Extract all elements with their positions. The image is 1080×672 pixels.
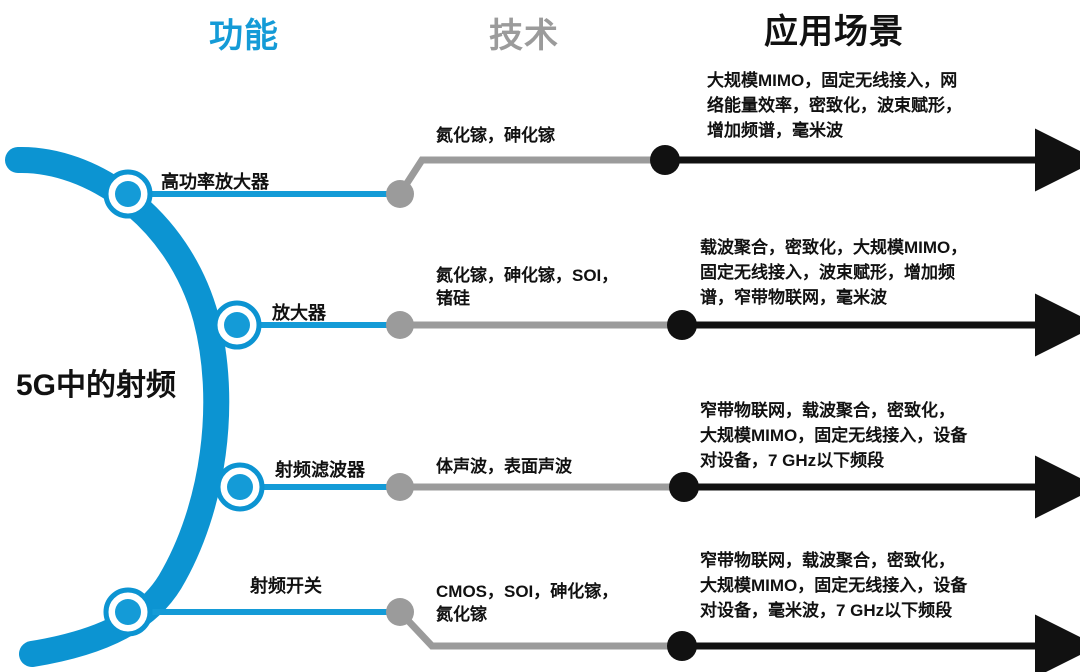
function-node-1 — [115, 181, 141, 207]
app-node-2 — [667, 310, 697, 340]
app-node-3 — [669, 472, 699, 502]
function-node-4 — [115, 599, 141, 625]
function-label-3: 射频滤波器 — [275, 456, 365, 482]
trunk-arc — [18, 160, 216, 654]
app-node-1 — [650, 145, 680, 175]
application-label-4: 窄带物联网，载波聚合，密致化， 大规模MIMO，固定无线接入，设备 对设备，毫米… — [700, 548, 967, 623]
tech-node-1 — [386, 180, 414, 208]
diagram-canvas: 功能 技术 应用场景 5G中的射频 高功率放大器 氮化镓，砷化镓 大规模MIMO… — [0, 0, 1080, 672]
application-label-2: 载波聚合，密致化，大规模MIMO， 固定无线接入，波束赋形，增加频 谱，窄带物联… — [700, 235, 967, 310]
application-label-3: 窄带物联网，载波聚合，密致化， 大规模MIMO，固定无线接入，设备 对设备，7 … — [700, 398, 967, 473]
root-label: 5G中的射频 — [16, 360, 176, 404]
function-node-3 — [227, 474, 253, 500]
technology-label-3: 体声波，表面声波 — [436, 455, 572, 478]
column-header-application: 应用场景 — [764, 4, 904, 53]
tech-node-3 — [386, 473, 414, 501]
column-header-technology: 技术 — [489, 8, 559, 57]
function-label-2: 放大器 — [272, 299, 326, 325]
technology-label-4: CMOS，SOI，砷化镓， 氮化镓 — [436, 580, 618, 626]
tech-node-2 — [386, 311, 414, 339]
technology-label-1: 氮化镓，砷化镓 — [436, 124, 555, 147]
function-node-2 — [224, 312, 250, 338]
column-header-function: 功能 — [209, 8, 279, 57]
app-node-4 — [667, 631, 697, 661]
technology-label-2: 氮化镓，砷化镓，SOI， 锗硅 — [436, 264, 618, 310]
function-label-4: 射频开关 — [250, 572, 322, 598]
tech-node-4 — [386, 598, 414, 626]
application-label-1: 大规模MIMO，固定无线接入，网 络能量效率，密致化，波束赋形， 增加频谱，毫米… — [707, 68, 962, 143]
function-label-1: 高功率放大器 — [161, 168, 269, 194]
